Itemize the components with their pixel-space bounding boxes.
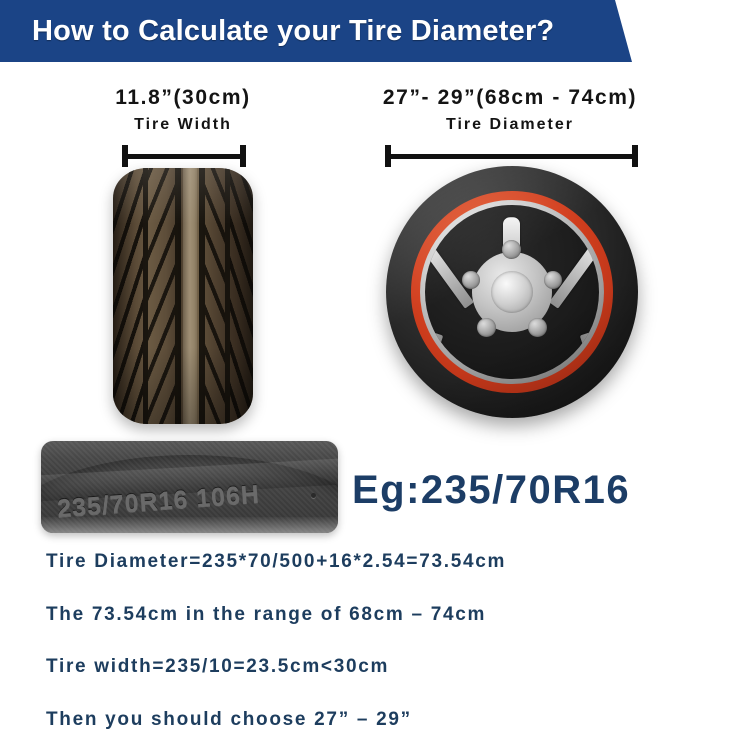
page-title: How to Calculate your Tire Diameter? bbox=[32, 15, 554, 48]
formula-line-range-check: The 73.54cm in the range of 68cm – 74cm bbox=[46, 604, 486, 626]
tire-width-dimension-bar bbox=[122, 145, 246, 167]
tire-diameter-label-block: 27”- 29”(68cm - 74cm) Tire Diameter bbox=[340, 86, 680, 134]
dimension-shaft bbox=[122, 154, 246, 159]
tire-tread-illustration bbox=[113, 168, 253, 424]
tire-diameter-dimension-bar bbox=[385, 145, 638, 167]
sidewall-rim-edge bbox=[41, 517, 338, 533]
formula-line-diameter: Tire Diameter=235*70/500+16*2.54=73.54cm bbox=[46, 551, 506, 573]
header-banner: How to Calculate your Tire Diameter? bbox=[0, 0, 640, 62]
dimension-end-cap-right bbox=[632, 145, 638, 167]
tire-diameter-value: 27”- 29”(68cm - 74cm) bbox=[340, 86, 680, 109]
tire-width-caption: Tire Width bbox=[105, 116, 261, 134]
tire-sidewall-photo: 235/70R16 106H bbox=[41, 441, 338, 533]
example-size-label: Eg:235/70R16 bbox=[352, 468, 630, 513]
tread-shading-overlay bbox=[113, 168, 253, 424]
alloy-wheel-illustration bbox=[386, 166, 638, 418]
tire-diameter-caption: Tire Diameter bbox=[340, 116, 680, 134]
dimension-shaft bbox=[385, 154, 638, 159]
formula-line-conclusion: Then you should choose 27” – 29” bbox=[46, 709, 412, 731]
dimension-end-cap-right bbox=[240, 145, 246, 167]
tire-width-value: 11.8”(30cm) bbox=[105, 86, 261, 109]
formula-line-width: Tire width=235/10=23.5cm<30cm bbox=[46, 656, 389, 678]
tire-tread-body bbox=[113, 168, 253, 424]
sidewall-dot-marker bbox=[311, 493, 316, 498]
infographic-page: How to Calculate your Tire Diameter? 11.… bbox=[0, 0, 750, 750]
wheel-lug-nut bbox=[528, 318, 547, 337]
tire-width-label-block: 11.8”(30cm) Tire Width bbox=[105, 86, 261, 134]
